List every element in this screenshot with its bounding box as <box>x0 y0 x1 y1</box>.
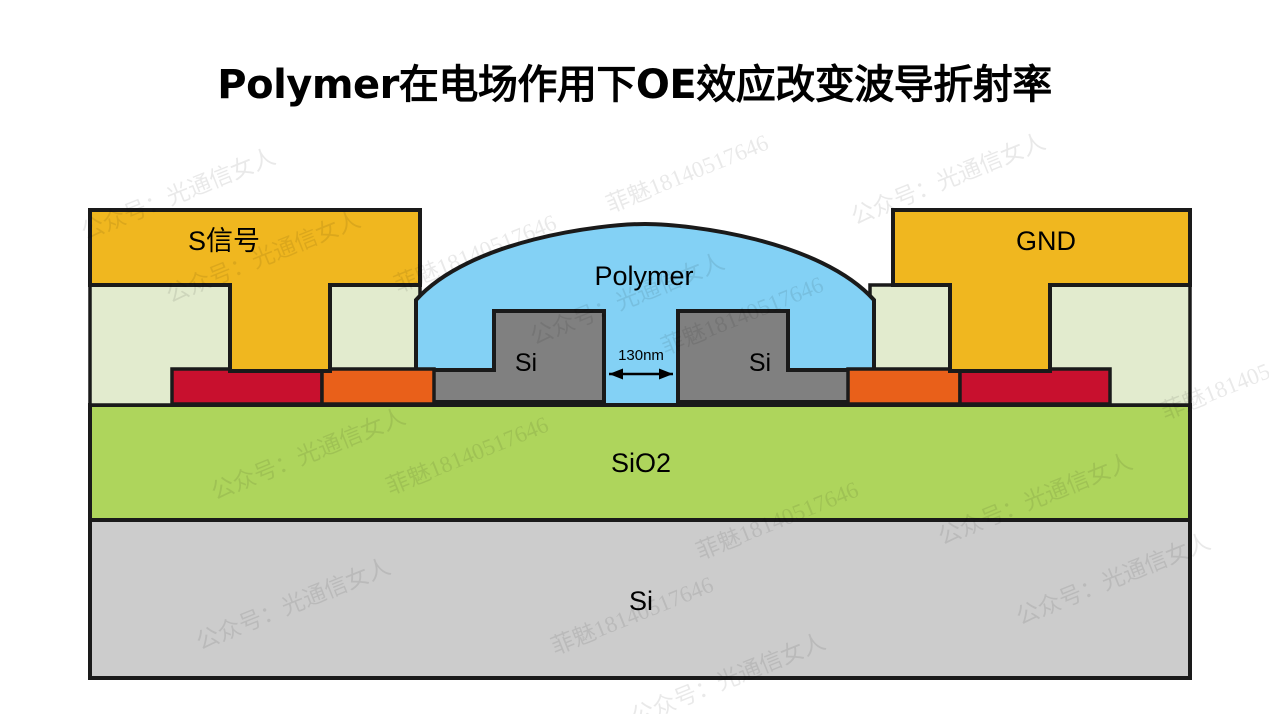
silicon-waveguide-left-label: Si <box>515 349 537 377</box>
doped-region-orange-right <box>848 369 960 404</box>
silicon-waveguide-right-label: Si <box>749 349 771 377</box>
doped-region-crimson-right <box>960 369 1110 404</box>
substrate-label: Si <box>629 586 653 616</box>
slide-canvas: Polymer在电场作用下OE效应改变波导折射率 <box>0 0 1269 714</box>
diagram-svg: S信号 GND Polymer Si Si SiO2 Si 130nm <box>0 0 1269 714</box>
doped-region-orange-left <box>322 369 434 404</box>
cross-section-diagram: S信号 GND Polymer Si Si SiO2 Si 130nm <box>0 0 1269 714</box>
ground-electrode-label: GND <box>1016 226 1076 256</box>
buried-oxide-label: SiO2 <box>611 448 671 478</box>
polymer-label: Polymer <box>594 261 693 291</box>
gap-dimension-label: 130nm <box>618 347 664 364</box>
doped-region-crimson-left <box>172 369 322 404</box>
signal-electrode-label: S信号 <box>188 226 260 256</box>
